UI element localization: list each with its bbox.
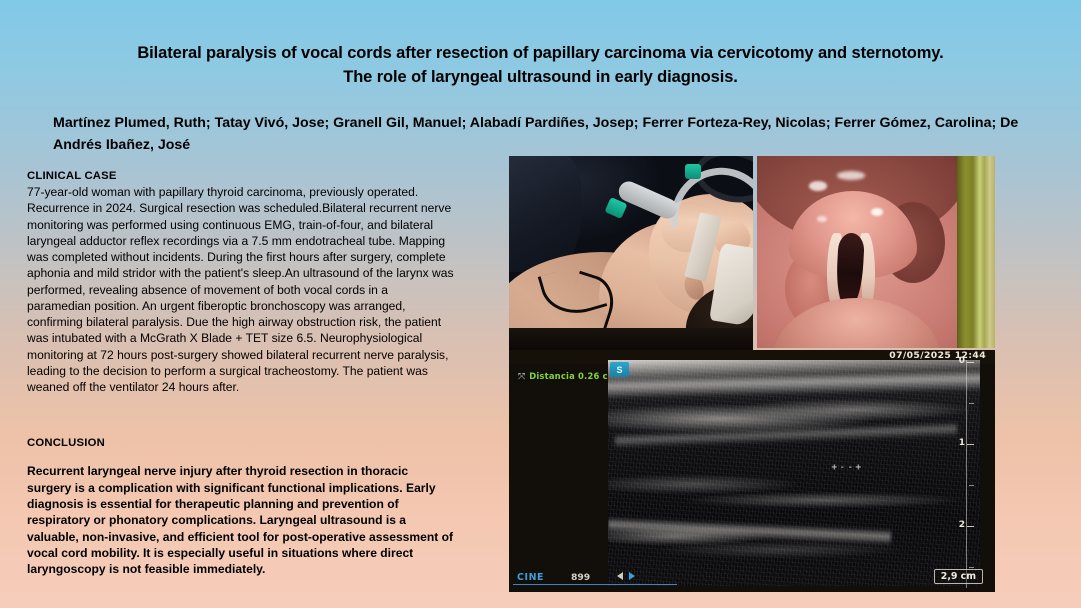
- cine-mode-label: CINE: [517, 572, 544, 583]
- depth-tick-major: [967, 444, 974, 445]
- probe-orientation-badge: S: [610, 362, 629, 377]
- photo-edge-strip: [957, 156, 995, 348]
- title-line-1: Bilateral paralysis of vocal cords after…: [30, 42, 1051, 66]
- depth-tick-major: [967, 362, 974, 363]
- ultrasound-scale-label: 2,9 cm: [934, 569, 983, 584]
- caliper-icon: ⤧: [518, 372, 525, 381]
- ultrasound-distance-label: Distancia 0.26 cm: [529, 371, 617, 381]
- specular-highlight: [871, 208, 883, 216]
- depth-tick-minor: [969, 567, 974, 568]
- clinical-case-heading: CLINICAL CASE: [27, 170, 455, 182]
- depth-ruler-line: [966, 360, 967, 588]
- depth-tick-label-0: 0: [959, 356, 965, 366]
- intubated-patient-photo: [509, 156, 753, 350]
- previous-frame-icon[interactable]: [617, 572, 623, 580]
- green-circuit-connector: [685, 164, 701, 179]
- author-list: Martínez Plumed, Ruth; Tatay Vivó, Jose;…: [45, 112, 1025, 156]
- conclusion-heading: CONCLUSION: [27, 437, 455, 449]
- depth-tick-label-2: 2: [959, 520, 965, 530]
- depth-tick-label-1: 1: [959, 438, 965, 448]
- ultrasound-image-sector: +--+ S: [608, 360, 980, 586]
- ultrasound-cine-bar[interactable]: CINE 899: [509, 568, 683, 592]
- specular-highlight: [837, 171, 865, 180]
- ultrasound-depth-ruler: 0 1 2: [957, 358, 983, 590]
- conclusion-section: CONCLUSION Recurrent laryngeal nerve inj…: [27, 437, 455, 577]
- text-column: CLINICAL CASE 77-year-old woman with pap…: [27, 170, 455, 577]
- section-spacer: [27, 395, 455, 437]
- ultrasound-caliper-marks: +--+: [831, 462, 863, 473]
- poster-canvas: Bilateral paralysis of vocal cords after…: [0, 0, 1081, 608]
- depth-tick-minor: [969, 485, 974, 486]
- ultrasound-distance-measurement: ⤧ Distancia 0.26 cm: [518, 371, 617, 381]
- title-line-2: The role of laryngeal ultrasound in earl…: [30, 66, 1051, 90]
- depth-tick-major: [967, 526, 974, 527]
- cine-playback-controls[interactable]: [617, 572, 635, 580]
- clinical-case-body: 77-year-old woman with papillary thyroid…: [27, 184, 455, 395]
- operating-table-edge: [509, 328, 753, 350]
- authors-text: Martínez Plumed, Ruth; Tatay Vivó, Jose;…: [45, 112, 1025, 156]
- clinical-case-section: CLINICAL CASE 77-year-old woman with pap…: [27, 170, 455, 395]
- photo-edge-strip-fill: [957, 156, 995, 348]
- cine-bar-underline: [513, 584, 677, 585]
- poster-title: Bilateral paralysis of vocal cords after…: [30, 42, 1051, 90]
- laryngoscopy-photo: [757, 156, 957, 348]
- cine-frame-number: 899: [571, 572, 590, 583]
- depth-tick-minor: [969, 403, 974, 404]
- laryngeal-ultrasound-panel: 07/05/2025 12:44 ⤧ Distancia 0.26 cm +--…: [509, 350, 995, 592]
- specular-highlight: [817, 216, 827, 223]
- specular-highlight: [809, 181, 827, 191]
- next-frame-icon[interactable]: [629, 572, 635, 580]
- conclusion-body: Recurrent laryngeal nerve injury after t…: [27, 463, 455, 577]
